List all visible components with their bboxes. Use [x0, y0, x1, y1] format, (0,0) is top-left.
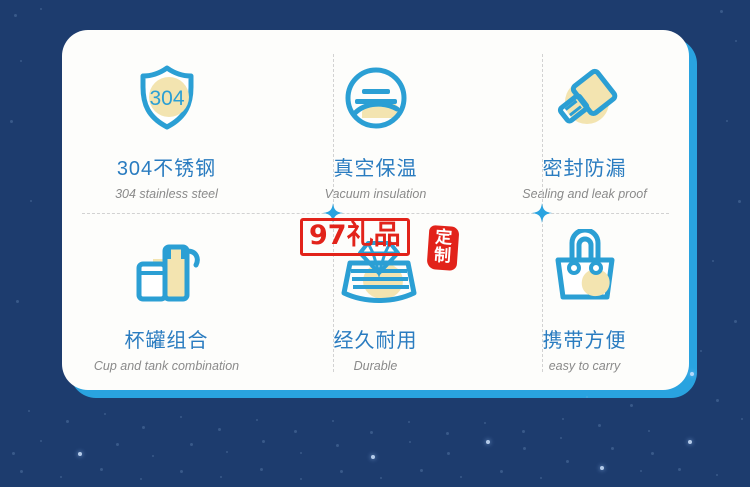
- vacuum-insulation-icon: [328, 56, 424, 140]
- star-dot: [116, 443, 119, 446]
- star-dot: [142, 426, 145, 429]
- feature-title: 杯罐组合: [125, 324, 209, 353]
- feature-cell-durable[interactable]: 经久耐用 Durable: [271, 210, 480, 390]
- star-dot: [78, 452, 82, 456]
- feature-cell-304-stainless-steel[interactable]: 304 304不锈钢 304 stainless steel: [62, 30, 271, 210]
- star-dot: [371, 455, 375, 459]
- star-dot: [566, 460, 569, 463]
- feature-cell-vacuum-insulation[interactable]: 真空保温 Vacuum insulation: [271, 30, 480, 210]
- star-dot: [220, 476, 222, 478]
- star-dot: [340, 470, 343, 473]
- feature-card: 304 304不锈钢 304 stainless steel: [62, 30, 689, 390]
- star-dot: [66, 420, 69, 423]
- star-dot: [700, 350, 702, 352]
- star-dot: [738, 200, 741, 203]
- star-dot: [648, 430, 650, 432]
- star-dot: [734, 320, 737, 323]
- star-dot: [688, 440, 692, 444]
- star-dot: [540, 477, 542, 479]
- feature-cell-sealing-leak-proof[interactable]: 密封防漏 Sealing and leak proof: [480, 30, 689, 210]
- feature-subtitle: easy to carry: [549, 359, 621, 373]
- star-dot: [28, 410, 30, 412]
- feature-subtitle: Cup and tank combination: [94, 359, 239, 373]
- feature-title: 真空保温: [334, 152, 418, 181]
- star-dot: [560, 437, 562, 439]
- star-dot: [100, 468, 103, 471]
- star-dot: [30, 200, 32, 202]
- feature-grid: 304 304不锈钢 304 stainless steel: [62, 30, 689, 390]
- star-dot: [690, 372, 694, 376]
- sparkle-diamond-icon: [323, 203, 343, 223]
- feature-cell-easy-to-carry[interactable]: 携带方便 easy to carry: [480, 210, 689, 390]
- star-dot: [460, 476, 462, 478]
- star-dot: [712, 260, 714, 262]
- star-dot: [522, 430, 525, 433]
- star-dot: [300, 478, 302, 480]
- feature-title: 密封防漏: [543, 152, 627, 181]
- star-dot: [446, 432, 449, 435]
- star-dot: [523, 447, 526, 450]
- star-dot: [370, 431, 373, 434]
- background-starfield: 304 304不锈钢 304 stainless steel: [0, 0, 750, 487]
- star-dot: [40, 8, 42, 10]
- shield-icon-label: 304: [149, 87, 184, 110]
- star-dot: [484, 422, 486, 424]
- divider-horizontal: [82, 213, 669, 214]
- star-dot: [630, 404, 633, 407]
- star-dot: [420, 469, 423, 472]
- star-dot: [408, 421, 410, 423]
- star-dot: [16, 300, 19, 303]
- star-dot: [180, 470, 183, 473]
- star-dot: [12, 452, 15, 455]
- sparkle-diamond-icon: [532, 203, 552, 223]
- star-dot: [40, 440, 42, 442]
- sealing-leak-proof-icon: [537, 56, 633, 140]
- star-dot: [226, 451, 228, 453]
- cup-and-tank-icon: [119, 228, 215, 312]
- star-dot: [104, 413, 106, 415]
- star-dot: [336, 444, 339, 447]
- star-dot: [651, 452, 654, 455]
- star-dot: [678, 468, 681, 471]
- feature-title: 携带方便: [543, 324, 627, 353]
- star-dot: [726, 120, 728, 122]
- star-dot: [716, 474, 718, 476]
- star-dot: [152, 455, 154, 457]
- feature-title: 经久耐用: [334, 324, 418, 353]
- star-dot: [409, 441, 411, 443]
- feature-subtitle: Durable: [354, 359, 398, 373]
- star-dot: [486, 440, 490, 444]
- durable-diamond-icon: [328, 228, 424, 312]
- star-dot: [720, 10, 723, 13]
- star-dot: [294, 430, 297, 433]
- feature-cell-cup-and-tank[interactable]: 杯罐组合 Cup and tank combination: [62, 210, 271, 390]
- star-dot: [20, 470, 23, 473]
- star-dot: [260, 468, 263, 471]
- shield-304-icon: 304: [119, 56, 215, 140]
- star-dot: [500, 470, 503, 473]
- star-dot: [10, 120, 13, 123]
- feature-subtitle: Vacuum insulation: [325, 187, 427, 201]
- star-dot: [735, 40, 737, 42]
- star-dot: [741, 418, 743, 420]
- star-dot: [611, 447, 614, 450]
- star-dot: [716, 399, 719, 402]
- star-dot: [60, 476, 62, 478]
- star-dot: [262, 440, 265, 443]
- star-dot: [180, 416, 182, 418]
- star-dot: [447, 452, 450, 455]
- star-dot: [600, 466, 604, 470]
- star-dot: [218, 428, 221, 431]
- easy-to-carry-bag-icon: [537, 228, 633, 312]
- star-dot: [586, 396, 588, 398]
- star-dot: [14, 14, 17, 17]
- star-dot: [300, 452, 302, 454]
- feature-subtitle: Sealing and leak proof: [522, 187, 646, 201]
- star-dot: [332, 420, 334, 422]
- star-dot: [562, 418, 564, 420]
- star-dot: [598, 424, 601, 427]
- star-dot: [20, 60, 22, 62]
- feature-title: 304不锈钢: [117, 152, 216, 181]
- star-dot: [190, 443, 193, 446]
- feature-subtitle: 304 stainless steel: [115, 187, 218, 201]
- star-dot: [640, 470, 642, 472]
- star-dot: [380, 477, 382, 479]
- star-dot: [256, 419, 258, 421]
- star-dot: [140, 478, 142, 480]
